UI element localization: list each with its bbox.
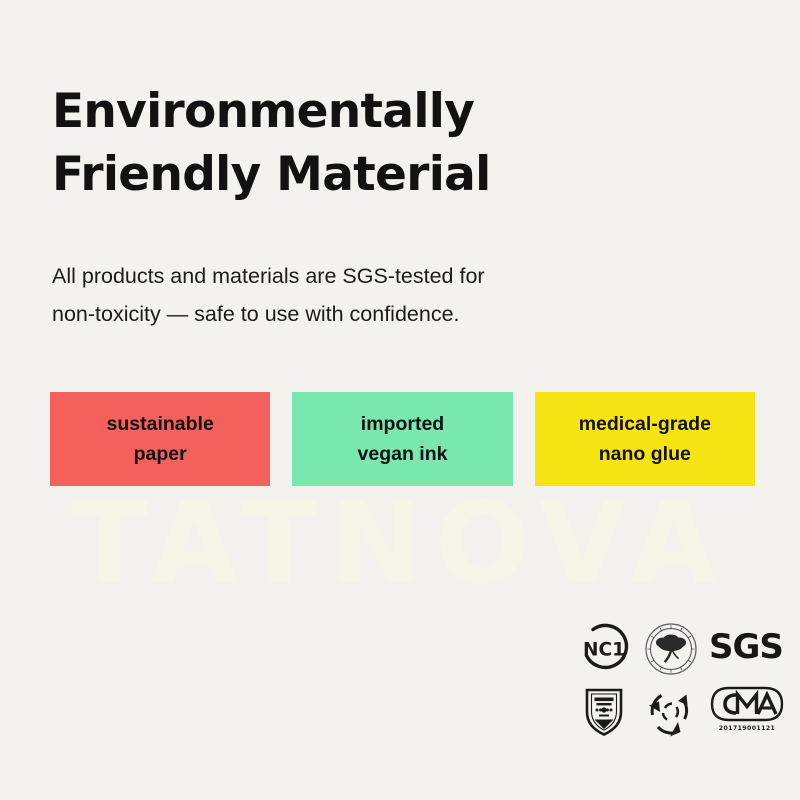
material-tag-imported-vegan-ink: imported vegan ink	[292, 392, 512, 486]
page-subtitle: All products and materials are SGS-teste…	[52, 257, 672, 334]
material-tag-label-line-2: paper	[134, 439, 187, 469]
page-subtitle-line-2: non-toxicity — safe to use with confiden…	[52, 295, 672, 333]
page-subtitle-line-1: All products and materials are SGS-teste…	[52, 257, 672, 295]
certification-badges-row-1: NC1	[575, 622, 780, 680]
sgs-logo-text: SGS	[709, 630, 783, 664]
cma-logo-icon: 201719001121	[709, 684, 785, 742]
page-title-line-2: Friendly Material	[52, 144, 732, 207]
material-tag-label-line-2: nano glue	[599, 439, 691, 469]
material-tag-label-line-1: sustainable	[107, 409, 214, 439]
material-tag-row: sustainable paper imported vegan ink med…	[50, 392, 755, 486]
shield-badge-icon	[575, 684, 633, 738]
certification-badges: NC1	[575, 622, 780, 747]
certification-badges-row-2: 201719001121	[575, 684, 780, 746]
sgs-logo: SGS	[709, 622, 783, 672]
page-title: Environmentally Friendly Material	[52, 81, 732, 207]
brand-watermark: TATNOVA	[0, 484, 800, 604]
recycling-symbol-icon	[643, 684, 699, 738]
material-tag-label-line-1: medical-grade	[579, 409, 711, 439]
material-tag-label-line-1: imported	[361, 409, 444, 439]
nc1-badge-icon: NC1	[575, 622, 633, 674]
poster-canvas: TATNOVA Environmentally Friendly Materia…	[0, 0, 800, 800]
svg-text:NC1: NC1	[583, 640, 625, 661]
material-tag-label-line-2: vegan ink	[358, 439, 448, 469]
cma-certificate-number: 201719001121	[719, 725, 775, 732]
material-tag-medical-grade-nano-glue: medical-grade nano glue	[535, 392, 755, 486]
forest-tree-seal-icon	[643, 622, 699, 676]
material-tag-sustainable-paper: sustainable paper	[50, 392, 270, 486]
page-title-line-1: Environmentally	[52, 81, 732, 144]
